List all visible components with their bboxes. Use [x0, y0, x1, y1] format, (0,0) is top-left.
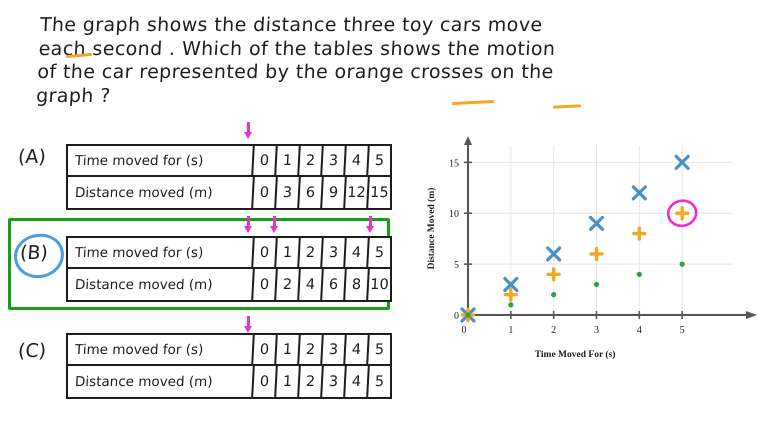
- data-point-orange-cross: [591, 248, 602, 259]
- cell: 4: [345, 366, 370, 397]
- x-tick-label: 3: [594, 325, 599, 336]
- cell: 5: [368, 238, 391, 267]
- row-header: Distance moved (m): [67, 269, 255, 300]
- cell: 0: [253, 177, 278, 208]
- cell: 4: [345, 146, 370, 175]
- cell: 15: [368, 177, 391, 208]
- cell: 0: [253, 238, 278, 267]
- cell: 2: [299, 366, 324, 397]
- cell: 3: [276, 177, 301, 208]
- cell: 4: [345, 335, 370, 364]
- origin-label: 0: [462, 325, 467, 336]
- row-header: Time moved for (s): [67, 238, 255, 267]
- cell: 3: [322, 366, 347, 397]
- cell: 8: [345, 269, 370, 300]
- table-row: Time moved for (s) 0 1 2 3 4 5: [68, 335, 390, 366]
- question-text: The graph shows the distance three toy c…: [36, 14, 741, 108]
- cell: 0: [253, 269, 278, 300]
- option-c-table[interactable]: Time moved for (s) 0 1 2 3 4 5 Distance …: [66, 333, 392, 399]
- y-tick-label: 10: [449, 209, 459, 220]
- x-axis-title: Time Moved For (s): [535, 349, 616, 360]
- data-point-green-dot: [680, 262, 685, 267]
- table-row: Time moved for (s) 0 1 2 3 4 5: [68, 238, 390, 269]
- cell: 1: [276, 146, 301, 175]
- x-tick-label: 4: [637, 325, 642, 336]
- y-axis-arrow-icon: [464, 136, 472, 145]
- data-point-orange-cross: [548, 269, 559, 280]
- cell: 9: [322, 177, 347, 208]
- y-tick-label: 0: [454, 311, 459, 322]
- cell: 1: [276, 366, 301, 397]
- cell: 4: [345, 238, 370, 267]
- cell: 5: [368, 335, 391, 364]
- chart-svg: 051015123450Time Moved For (s)Distance M…: [420, 130, 760, 370]
- cell: 3: [322, 146, 347, 175]
- data-point-orange-cross: [505, 289, 516, 300]
- option-label-c[interactable]: (C): [17, 340, 47, 362]
- scatter-chart: 051015123450Time Moved For (s)Distance M…: [420, 130, 760, 370]
- data-point-orange-cross: [677, 208, 688, 219]
- cell: 2: [276, 269, 301, 300]
- x-tick-label: 2: [551, 325, 556, 336]
- worksheet-page: The graph shows the distance three toy c…: [0, 0, 760, 427]
- cell: 3: [322, 335, 347, 364]
- cell: 10: [368, 269, 391, 300]
- option-label-b[interactable]: (B): [19, 242, 48, 264]
- option-a-table[interactable]: Time moved for (s) 0 1 2 3 4 5 Distance …: [66, 144, 392, 210]
- y-tick-label: 15: [449, 158, 459, 169]
- data-point-green-dot: [594, 282, 599, 287]
- data-point-green-dot: [637, 272, 642, 277]
- cell: 6: [322, 269, 347, 300]
- cell: 0: [253, 335, 278, 364]
- x-tick-label: 5: [680, 325, 685, 336]
- row-header: Time moved for (s): [67, 335, 255, 364]
- cell: 2: [299, 146, 324, 175]
- cell: 2: [299, 335, 324, 364]
- table-row: Distance moved (m) 0 3 6 9 12 15: [68, 177, 390, 208]
- option-label-a[interactable]: (A): [17, 146, 46, 168]
- cell: 5: [368, 146, 391, 175]
- cell: 4: [299, 269, 324, 300]
- table-row: Time moved for (s) 0 1 2 3 4 5: [68, 146, 390, 177]
- cell: 1: [276, 335, 301, 364]
- cell: 3: [322, 238, 347, 267]
- data-point-green-dot: [508, 302, 513, 307]
- cell: 0: [253, 366, 278, 397]
- data-point-orange-cross: [634, 228, 645, 239]
- question-line-1: The graph shows the distance three toy c…: [39, 14, 740, 38]
- highlight-underline-crosses: [553, 104, 581, 108]
- cell: 5: [368, 366, 391, 397]
- cell: 1: [276, 238, 301, 267]
- table-row: Distance moved (m) 0 1 2 3 4 5: [68, 366, 390, 397]
- question-line-2: each second . Which of the tables shows …: [38, 38, 739, 62]
- row-header: Distance moved (m): [67, 366, 255, 397]
- x-tick-label: 1: [508, 325, 513, 336]
- y-axis-title: Distance Moved (m): [426, 188, 437, 270]
- row-header: Distance moved (m): [67, 177, 255, 208]
- option-b-table[interactable]: Time moved for (s) 0 1 2 3 4 5 Distance …: [66, 236, 392, 302]
- question-line-3: of the car represented by the orange cro…: [37, 61, 738, 85]
- question-line-4: graph ?: [36, 85, 737, 109]
- data-point-green-dot: [551, 292, 556, 297]
- cell: 6: [299, 177, 324, 208]
- cell: 12: [345, 177, 370, 208]
- cell: 0: [253, 146, 278, 175]
- data-point-green-dot: [465, 312, 470, 317]
- row-header: Time moved for (s): [67, 146, 255, 175]
- y-tick-label: 5: [454, 260, 459, 271]
- cell: 2: [299, 238, 324, 267]
- x-axis-arrow-icon: [746, 311, 757, 319]
- table-row: Distance moved (m) 0 2 4 6 8 10: [68, 269, 390, 300]
